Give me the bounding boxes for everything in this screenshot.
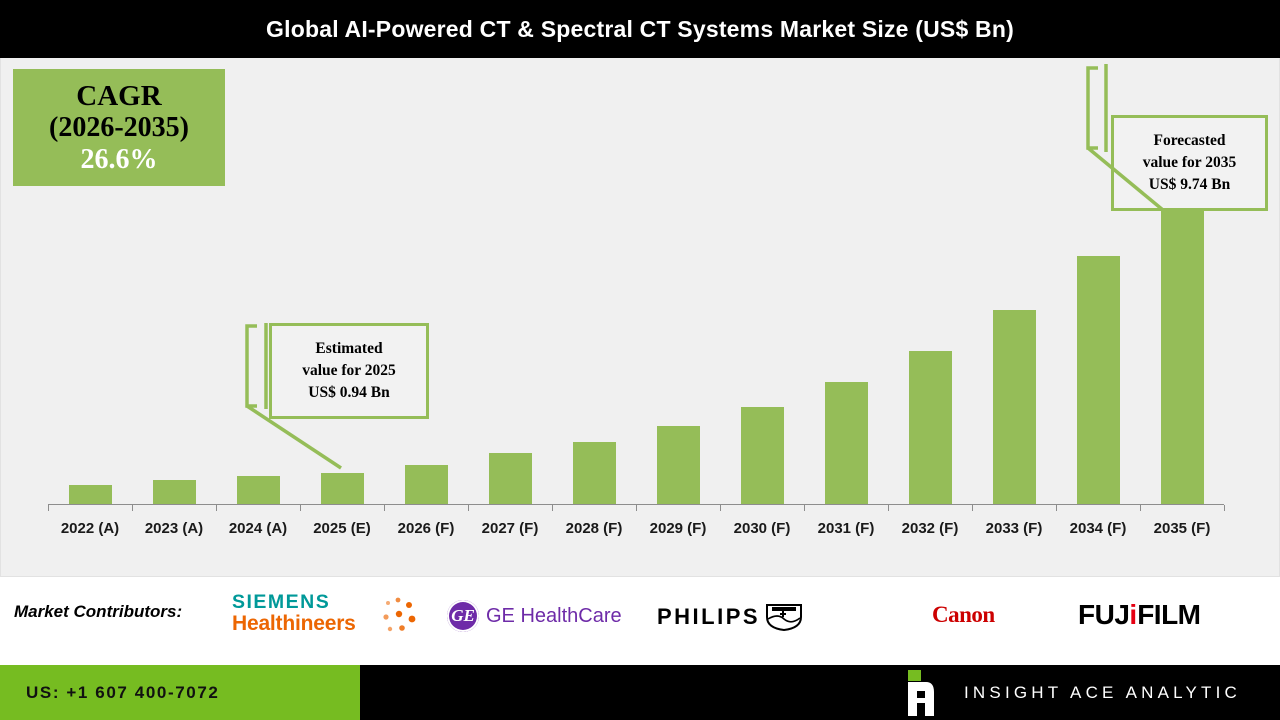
callout-estimated-line3: US$ 0.94 Bn — [308, 382, 389, 404]
contributors-strip: Market Contributors: SIEMENS Healthineer… — [0, 577, 1280, 665]
x-axis-label-2028: 2028 (F) — [552, 513, 636, 543]
bar-2035 — [1161, 175, 1204, 505]
callout-forecasted-2035: Forecasted value for 2035 US$ 9.74 Bn — [1111, 115, 1268, 211]
x-tick — [720, 505, 721, 511]
insight-ace-logo-icon — [900, 670, 942, 716]
x-tick — [300, 505, 301, 511]
x-tick — [552, 505, 553, 511]
x-tick — [1056, 505, 1057, 511]
fujifilm-logo: FUJ i FILM — [1078, 599, 1201, 631]
callout-forecasted-line2: value for 2035 — [1143, 152, 1237, 174]
siemens-healthineers-logo: SIEMENS Healthineers — [232, 591, 422, 636]
x-axis-label-2031: 2031 (F) — [804, 513, 888, 543]
x-axis-line — [48, 504, 1224, 505]
ge-healthcare-wordmark: GE HealthCare — [486, 605, 622, 628]
x-tick — [132, 505, 133, 511]
x-axis-label-2023: 2023 (A) — [132, 513, 216, 543]
brand-name: INSIGHT ACE ANALYTIC — [964, 683, 1241, 703]
fujifilm-accent-i: i — [1129, 599, 1137, 631]
x-tick — [888, 505, 889, 511]
bar-2027 — [489, 453, 532, 505]
bottom-bar: US: +1 607 400-7072 INSIGHT ACE ANALYTIC — [0, 665, 1280, 720]
bar-2022 — [69, 485, 112, 505]
bar-2033 — [993, 310, 1036, 505]
x-axis-label-2034: 2034 (F) — [1056, 513, 1140, 543]
header-bar: Global AI-Powered CT & Spectral CT Syste… — [0, 0, 1280, 58]
callout-estimated-line1: Estimated — [315, 338, 382, 360]
x-tick — [804, 505, 805, 511]
canon-logo: Canon — [932, 602, 995, 628]
bar-2032 — [909, 351, 952, 505]
ge-monogram-icon: GE — [447, 600, 479, 632]
brand-lockup: INSIGHT ACE ANALYTIC — [900, 665, 1241, 720]
philips-wordmark: PHILIPS — [657, 604, 760, 630]
cagr-label: CAGR — [76, 80, 161, 112]
x-axis-label-2035: 2035 (F) — [1140, 513, 1224, 543]
x-axis-label-2024: 2024 (A) — [216, 513, 300, 543]
x-axis-label-2032: 2032 (F) — [888, 513, 972, 543]
phone-chip[interactable]: US: +1 607 400-7072 — [0, 665, 360, 720]
callout-forecasted-line3: US$ 9.74 Bn — [1149, 174, 1230, 196]
x-tick — [216, 505, 217, 511]
bar-2029 — [657, 426, 700, 505]
phone-number: US: +1 607 400-7072 — [0, 683, 219, 703]
contributors-label: Market Contributors: — [14, 602, 182, 622]
bar-2030 — [741, 407, 784, 505]
chart-panel: 2022 (A)2023 (A)2024 (A)2025 (E)2026 (F)… — [0, 58, 1280, 577]
x-tick — [1140, 505, 1141, 511]
x-tick — [384, 505, 385, 511]
canon-wordmark: Canon — [932, 602, 995, 628]
x-tick — [48, 505, 49, 511]
x-axis-label-2027: 2027 (F) — [468, 513, 552, 543]
ge-healthcare-logo: GE GE HealthCare — [447, 600, 622, 632]
cagr-period: (2026-2035) — [49, 112, 189, 143]
bar-2023 — [153, 480, 196, 505]
fujifilm-part2: FILM — [1137, 599, 1200, 631]
bar-2028 — [573, 442, 616, 505]
siemens-dots-icon — [380, 595, 424, 637]
bar-2031 — [825, 382, 868, 505]
x-tick — [468, 505, 469, 511]
x-axis-label-2030: 2030 (F) — [720, 513, 804, 543]
bar-2034 — [1077, 256, 1120, 505]
philips-logo: PHILIPS — [657, 602, 804, 632]
x-axis-label-2033: 2033 (F) — [972, 513, 1056, 543]
philips-shield-icon — [764, 602, 804, 632]
x-axis-label-2026: 2026 (F) — [384, 513, 468, 543]
callout-forecasted-line1: Forecasted — [1153, 130, 1225, 152]
x-tick — [972, 505, 973, 511]
fujifilm-part1: FUJ — [1078, 599, 1129, 631]
bar-2026 — [405, 465, 448, 505]
cagr-badge: CAGR (2026-2035) 26.6% — [13, 69, 225, 186]
x-tick — [636, 505, 637, 511]
x-axis-label-2029: 2029 (F) — [636, 513, 720, 543]
bar-2024 — [237, 476, 280, 505]
x-axis-label-2025: 2025 (E) — [300, 513, 384, 543]
x-tick — [1224, 505, 1225, 511]
bar-2025 — [321, 473, 364, 505]
cagr-value: 26.6% — [81, 144, 158, 175]
callout-estimated-line2: value for 2025 — [302, 360, 396, 382]
page-title: Global AI-Powered CT & Spectral CT Syste… — [266, 16, 1014, 43]
callout-estimated-2025: Estimated value for 2025 US$ 0.94 Bn — [269, 323, 429, 419]
x-axis-label-2022: 2022 (A) — [48, 513, 132, 543]
